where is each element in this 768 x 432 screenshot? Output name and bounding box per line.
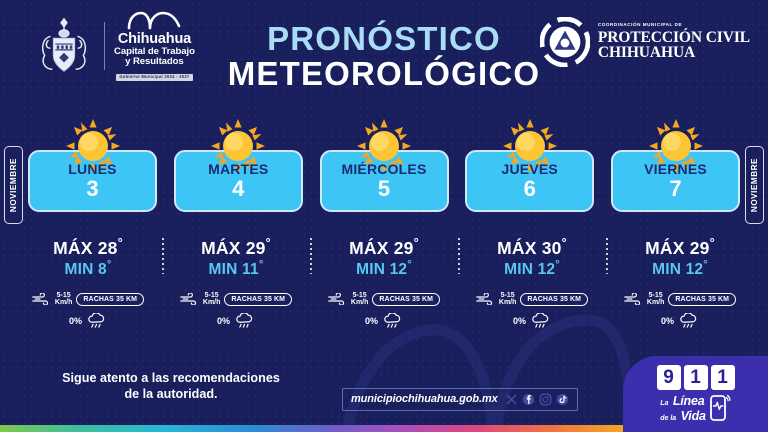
wind-speed-value: 5-15 (203, 292, 221, 300)
emergency-number: 9 1 1 (657, 365, 735, 390)
wind-speed-value: 5-15 (647, 292, 665, 300)
agency-line-2: CHIHUAHUA (598, 45, 750, 61)
rainbow-accent-bar (0, 425, 625, 432)
day-card[interactable]: MARTES 4 (174, 150, 303, 212)
wind-row: 5-15 Km/h RACHAS 35 KM (180, 292, 292, 307)
month-label-left: NOVIEMBRE (4, 146, 23, 224)
min-temp: MIN 12° (356, 259, 412, 279)
day-details-row: MÁX 28° MIN 8° 5-15 Km/h RACHAS 35 KM 0% (14, 236, 754, 328)
rain-cloud-icon (678, 313, 699, 328)
wind-speed-value: 5-15 (499, 292, 517, 300)
day-card[interactable]: MIÉRCOLES 5 (320, 150, 449, 212)
rain-chance: 0% (513, 316, 526, 326)
rain-row: 0% (217, 313, 255, 328)
phone-pulse-icon (709, 393, 731, 423)
tag-small-2: de la (660, 415, 676, 422)
max-temp: MÁX 30° (497, 236, 567, 258)
day-name: JUEVES (502, 162, 558, 176)
day-name: MIÉRCOLES (341, 162, 426, 176)
rain-row: 0% (365, 313, 403, 328)
max-temp: MÁX 28° (53, 236, 123, 258)
social-links (505, 393, 569, 406)
wind-speed: 5-15 Km/h (499, 292, 517, 307)
wind-row: 5-15 Km/h RACHAS 35 KM (624, 292, 736, 307)
emergency-tagline-text: La Línea de la Vida (660, 393, 706, 423)
day-detail: MÁX 29° MIN 12° 5-15 Km/h RACHAS 35 KM 0 (606, 236, 754, 328)
advisory-line-1: Sigue atento a las recomendaciones (26, 370, 316, 386)
wind-speed-value: 5-15 (351, 292, 369, 300)
min-temp: MIN 11° (209, 259, 264, 279)
wind-speed-unit: Km/h (203, 299, 221, 307)
day-detail: MÁX 29° MIN 11° 5-15 Km/h RACHAS 35 KM 0 (162, 236, 310, 328)
civil-protection-emblem-icon (540, 17, 590, 67)
tag-small-1: La (660, 400, 668, 407)
min-temp: MIN 8° (64, 259, 111, 279)
website-url[interactable]: municipiochihuahua.gob.mx (351, 393, 498, 405)
day-card-row: LUNES 3 MARTES 4 (28, 150, 740, 212)
emergency-digit: 1 (711, 365, 735, 390)
agency-text: COORDINACIÓN MUNICIPAL DE PROTECCIÓN CIV… (598, 23, 750, 61)
emergency-911-panel[interactable]: 9 1 1 La Línea de la Vida (623, 356, 768, 432)
wind-gusts-badge: RACHAS 35 KM (76, 293, 144, 307)
instagram-icon[interactable] (539, 393, 552, 406)
wind-speed: 5-15 Km/h (351, 292, 369, 307)
day-detail: MÁX 29° MIN 12° 5-15 Km/h RACHAS 35 KM 0 (310, 236, 458, 328)
wind-speed-unit: Km/h (55, 299, 73, 307)
day-number: 5 (378, 177, 390, 200)
emergency-digit: 9 (657, 365, 681, 390)
day-card[interactable]: VIERNES 7 (611, 150, 740, 212)
wind-speed-unit: Km/h (647, 299, 665, 307)
website-bar[interactable]: municipiochihuahua.gob.mx (342, 388, 578, 411)
x-icon[interactable] (505, 393, 518, 406)
rain-chance: 0% (217, 316, 230, 326)
wind-speed-value: 5-15 (55, 292, 73, 300)
rain-chance: 0% (365, 316, 378, 326)
day-name: VIERNES (644, 162, 707, 176)
forecast-infographic: Chihuahua Capital de Trabajo y Resultado… (0, 0, 768, 432)
day-detail: MÁX 30° MIN 12° 5-15 Km/h RACHAS 35 KM 0 (458, 236, 606, 328)
civil-protection-lockup: COORDINACIÓN MUNICIPAL DE PROTECCIÓN CIV… (540, 17, 750, 67)
tag-line-1: Línea (673, 394, 705, 408)
day-name: LUNES (68, 162, 116, 176)
rain-chance: 0% (69, 316, 82, 326)
rain-cloud-icon (234, 313, 255, 328)
day-detail: MÁX 28° MIN 8° 5-15 Km/h RACHAS 35 KM 0% (14, 236, 162, 328)
wind-row: 5-15 Km/h RACHAS 35 KM (328, 292, 440, 307)
wind-gusts-badge: RACHAS 35 KM (520, 293, 588, 307)
wind-icon (180, 293, 199, 305)
day-name: MARTES (208, 162, 268, 176)
wind-icon (476, 293, 495, 305)
wind-gusts-badge: RACHAS 35 KM (224, 293, 292, 307)
wind-row: 5-15 Km/h RACHAS 35 KM (476, 292, 588, 307)
wind-speed-unit: Km/h (499, 299, 517, 307)
max-temp: MÁX 29° (201, 236, 271, 258)
day-card[interactable]: JUEVES 6 (465, 150, 594, 212)
wind-icon (32, 293, 51, 305)
wind-speed-unit: Km/h (351, 299, 369, 307)
day-number: 6 (524, 177, 536, 200)
rain-cloud-icon (530, 313, 551, 328)
rain-row: 0% (69, 313, 107, 328)
month-label-right: NOVIEMBRE (745, 146, 764, 224)
min-temp: MIN 12° (652, 259, 708, 279)
day-number: 4 (232, 177, 244, 200)
rain-row: 0% (513, 313, 551, 328)
max-temp: MÁX 29° (645, 236, 715, 258)
rain-row: 0% (661, 313, 699, 328)
header: Chihuahua Capital de Trabajo y Resultado… (0, 0, 768, 112)
advisory-line-2: de la autoridad. (26, 386, 316, 402)
emergency-tagline: La Línea de la Vida (660, 393, 731, 423)
wind-gusts-badge: RACHAS 35 KM (372, 293, 440, 307)
rain-cloud-icon (382, 313, 403, 328)
wind-speed: 5-15 Km/h (203, 292, 221, 307)
wind-speed: 5-15 Km/h (647, 292, 665, 307)
day-card[interactable]: LUNES 3 (28, 150, 157, 212)
wind-icon (624, 293, 643, 305)
min-temp: MIN 12° (504, 259, 560, 279)
rain-cloud-icon (86, 313, 107, 328)
wind-icon (328, 293, 347, 305)
advisory-message: Sigue atento a las recomendaciones de la… (26, 370, 316, 402)
month-label-right-text: NOVIEMBRE (750, 158, 759, 212)
day-number: 3 (86, 177, 98, 200)
agency-line-1: PROTECCIÓN CIVIL (598, 30, 750, 46)
emergency-digit: 1 (684, 365, 708, 390)
max-temp: MÁX 29° (349, 236, 419, 258)
wind-row: 5-15 Km/h RACHAS 35 KM (32, 292, 144, 307)
agency-kicker: COORDINACIÓN MUNICIPAL DE (598, 23, 750, 28)
day-number: 7 (669, 177, 681, 200)
month-label-left-text: NOVIEMBRE (9, 158, 18, 212)
rain-chance: 0% (661, 316, 674, 326)
tiktok-icon[interactable] (556, 393, 569, 406)
tag-line-2: Vida (681, 409, 706, 423)
facebook-icon[interactable] (522, 393, 535, 406)
wind-speed: 5-15 Km/h (55, 292, 73, 307)
wind-gusts-badge: RACHAS 35 KM (668, 293, 736, 307)
